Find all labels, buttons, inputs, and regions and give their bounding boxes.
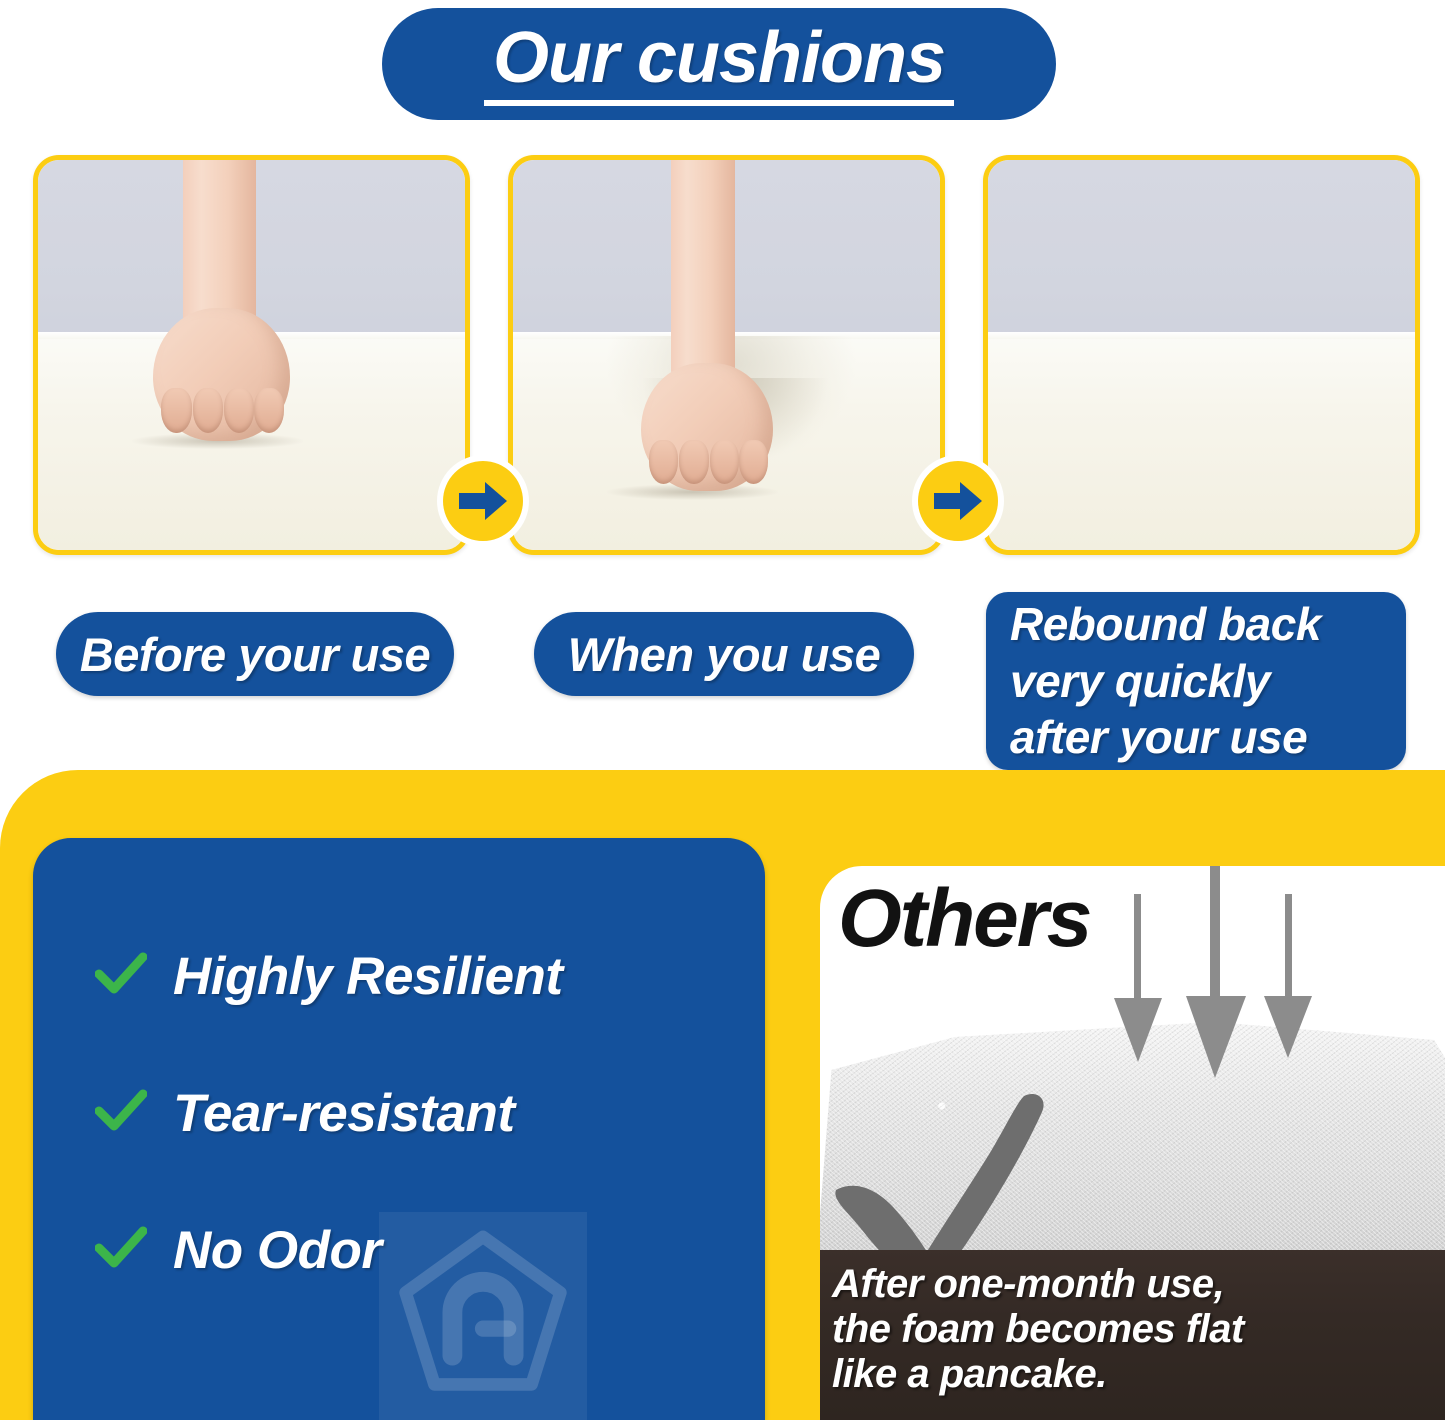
pressure-arrows	[1106, 866, 1336, 1086]
page-title: Our cushions	[493, 22, 945, 94]
step-label-3-line-1: Rebound back	[1010, 596, 1321, 653]
fist	[153, 308, 290, 441]
others-caption-line-1: After one-month use,	[832, 1262, 1445, 1307]
step-label-1-text: Before your use	[80, 627, 430, 682]
pentagon-logo-icon	[393, 1226, 573, 1406]
pressure-arrow-shaft-1	[1134, 894, 1141, 1002]
pressure-arrow-head-1	[1114, 998, 1162, 1062]
knuckles	[641, 440, 773, 484]
demo-photo-strip	[0, 155, 1445, 555]
fist	[641, 363, 773, 492]
title-underline	[484, 100, 954, 106]
others-caption-line-2: the foam becomes flat	[832, 1307, 1445, 1352]
pressure-arrow-shaft-2	[1210, 866, 1220, 1000]
check-icon	[95, 1089, 147, 1138]
photo-3-scene	[988, 160, 1415, 550]
step-arrow-1-disc	[443, 461, 523, 541]
pressure-arrow-head-3	[1264, 996, 1312, 1058]
step-label-3-line-2: very quickly	[1010, 653, 1270, 710]
feature-item-tear-resistant: Tear-resistant	[95, 1083, 765, 1144]
arrow-right-icon	[932, 479, 984, 523]
feature-label: No Odor	[173, 1220, 381, 1281]
others-panel: Others A	[820, 866, 1445, 1420]
pressure-arrow-shaft-3	[1285, 894, 1292, 998]
step-label-3: Rebound back very quickly after your use	[986, 592, 1406, 770]
demo-photo-2	[508, 155, 945, 555]
arrow-right-icon	[457, 479, 509, 523]
others-caption-line-3: like a pancake.	[832, 1352, 1445, 1397]
check-icon	[95, 1226, 147, 1275]
knuckles	[153, 388, 290, 433]
others-caption: After one-month use, the foam becomes fl…	[820, 1250, 1445, 1420]
pressure-arrow-head-2	[1186, 996, 1246, 1078]
brand-watermark	[379, 1212, 587, 1420]
feature-label: Tear-resistant	[173, 1083, 515, 1144]
demo-photo-3	[983, 155, 1420, 555]
others-title: Others	[838, 878, 1090, 960]
step-label-2-text: When you use	[568, 627, 881, 682]
step-arrow-1-badge	[437, 455, 529, 547]
foam-slab-rebounded	[988, 332, 1415, 550]
feature-label: Highly Resilient	[173, 946, 563, 1007]
photo-2-scene	[513, 160, 940, 550]
step-arrow-2-badge	[912, 455, 1004, 547]
step-label-3-line-3: after your use	[1010, 709, 1307, 766]
photo-background-wall	[988, 160, 1415, 343]
step-label-1: Before your use	[56, 612, 454, 696]
forearm	[671, 160, 735, 378]
step-arrow-2-disc	[918, 461, 998, 541]
page-title-banner: Our cushions	[382, 8, 1056, 120]
step-label-2: When you use	[534, 612, 914, 696]
photo-1-scene	[38, 160, 465, 550]
check-icon	[95, 952, 147, 1001]
demo-photo-1	[33, 155, 470, 555]
feature-item-highly-resilient: Highly Resilient	[95, 946, 765, 1007]
infographic-root: Our cushions	[0, 0, 1445, 1420]
features-panel: Highly Resilient Tear-resistant No Odor	[33, 838, 765, 1420]
